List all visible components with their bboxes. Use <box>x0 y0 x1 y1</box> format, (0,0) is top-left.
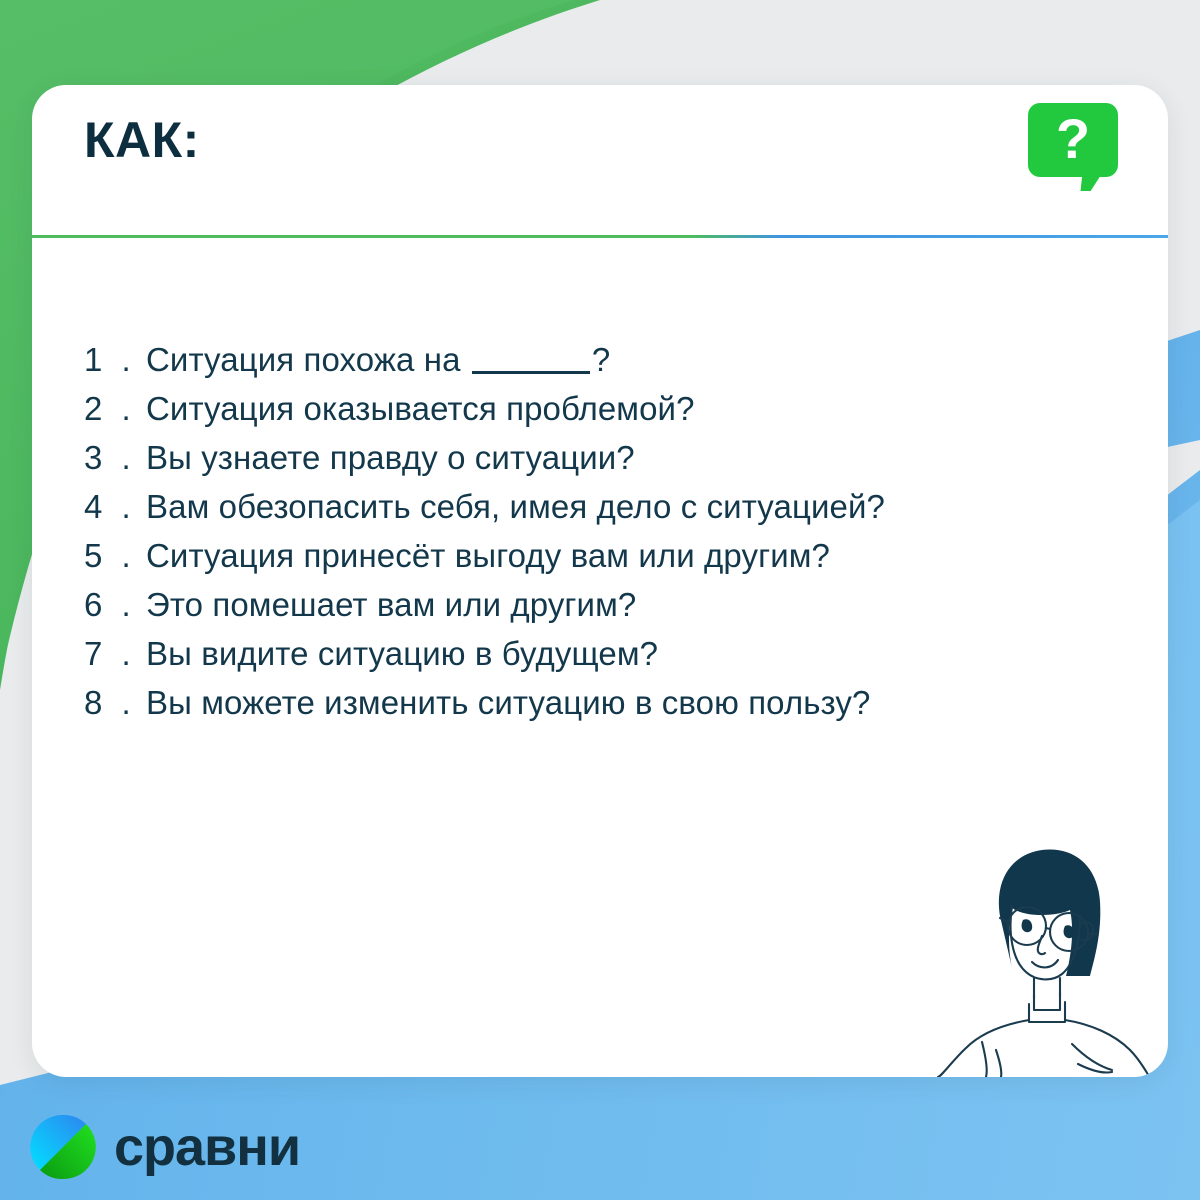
list-item-number: 6 . <box>84 580 146 629</box>
list-item: 1 . Ситуация похожа на ? <box>84 335 885 384</box>
list-item: 7 . Вы видите ситуацию в будущем? <box>84 629 885 678</box>
fill-in-blank <box>472 346 590 374</box>
list-item-label: Это помешает вам или другим? <box>146 580 636 629</box>
card-header: КАК: ? <box>32 85 1168 235</box>
list-item-number: 4 . <box>84 482 146 531</box>
list-item: 3 . Вы узнаете правду о ситуации? <box>84 433 885 482</box>
list-item-label: Вы видите ситуацию в будущем? <box>146 629 658 678</box>
list-item-number: 8 . <box>84 678 146 727</box>
question-mark-speech-bubble-icon: ? <box>1028 103 1118 177</box>
list-item-label: Вы можете изменить ситуацию в свою польз… <box>146 678 870 727</box>
sravni-circle-logo-icon <box>30 1114 96 1180</box>
list-item: 6 . Это помешает вам или другим? <box>84 580 885 629</box>
list-item-number: 1 . <box>84 335 146 384</box>
brand-name: сравни <box>114 1120 300 1174</box>
list-item: 5 . Ситуация принесёт выгоду вам или дру… <box>84 531 885 580</box>
question-list: 1 . Ситуация похожа на ? 2 . Ситуация ок… <box>84 335 885 727</box>
woman-with-glasses-illustration <box>908 832 1168 1077</box>
list-item-label: Ситуация оказывается проблемой? <box>146 384 695 433</box>
footer-brand: сравни <box>30 1114 300 1180</box>
list-item: 4 . Вам обезопасить себя, имея дело с си… <box>84 482 885 531</box>
list-item-label: Ситуация принесёт выгоду вам или другим? <box>146 531 830 580</box>
page-title: КАК: <box>84 115 200 165</box>
list-item-label: Ситуация похожа на ? <box>146 335 610 384</box>
question-mark-glyph: ? <box>1028 103 1118 177</box>
list-item: 2 . Ситуация оказывается проблемой? <box>84 384 885 433</box>
poster-canvas: КАК: ? 1 . Ситуация похожа на ? 2 . Ситу… <box>0 0 1200 1200</box>
list-item: 8 . Вы можете изменить ситуацию в свою п… <box>84 678 885 727</box>
list-item-number: 5 . <box>84 531 146 580</box>
list-item-number: 7 . <box>84 629 146 678</box>
list-item-label: Вы узнаете правду о ситуации? <box>146 433 635 482</box>
content-card: КАК: ? 1 . Ситуация похожа на ? 2 . Ситу… <box>32 85 1168 1077</box>
header-divider <box>32 235 1168 238</box>
list-item-number: 2 . <box>84 384 146 433</box>
list-item-label: Вам обезопасить себя, имея дело с ситуац… <box>146 482 885 531</box>
list-item-number: 3 . <box>84 433 146 482</box>
